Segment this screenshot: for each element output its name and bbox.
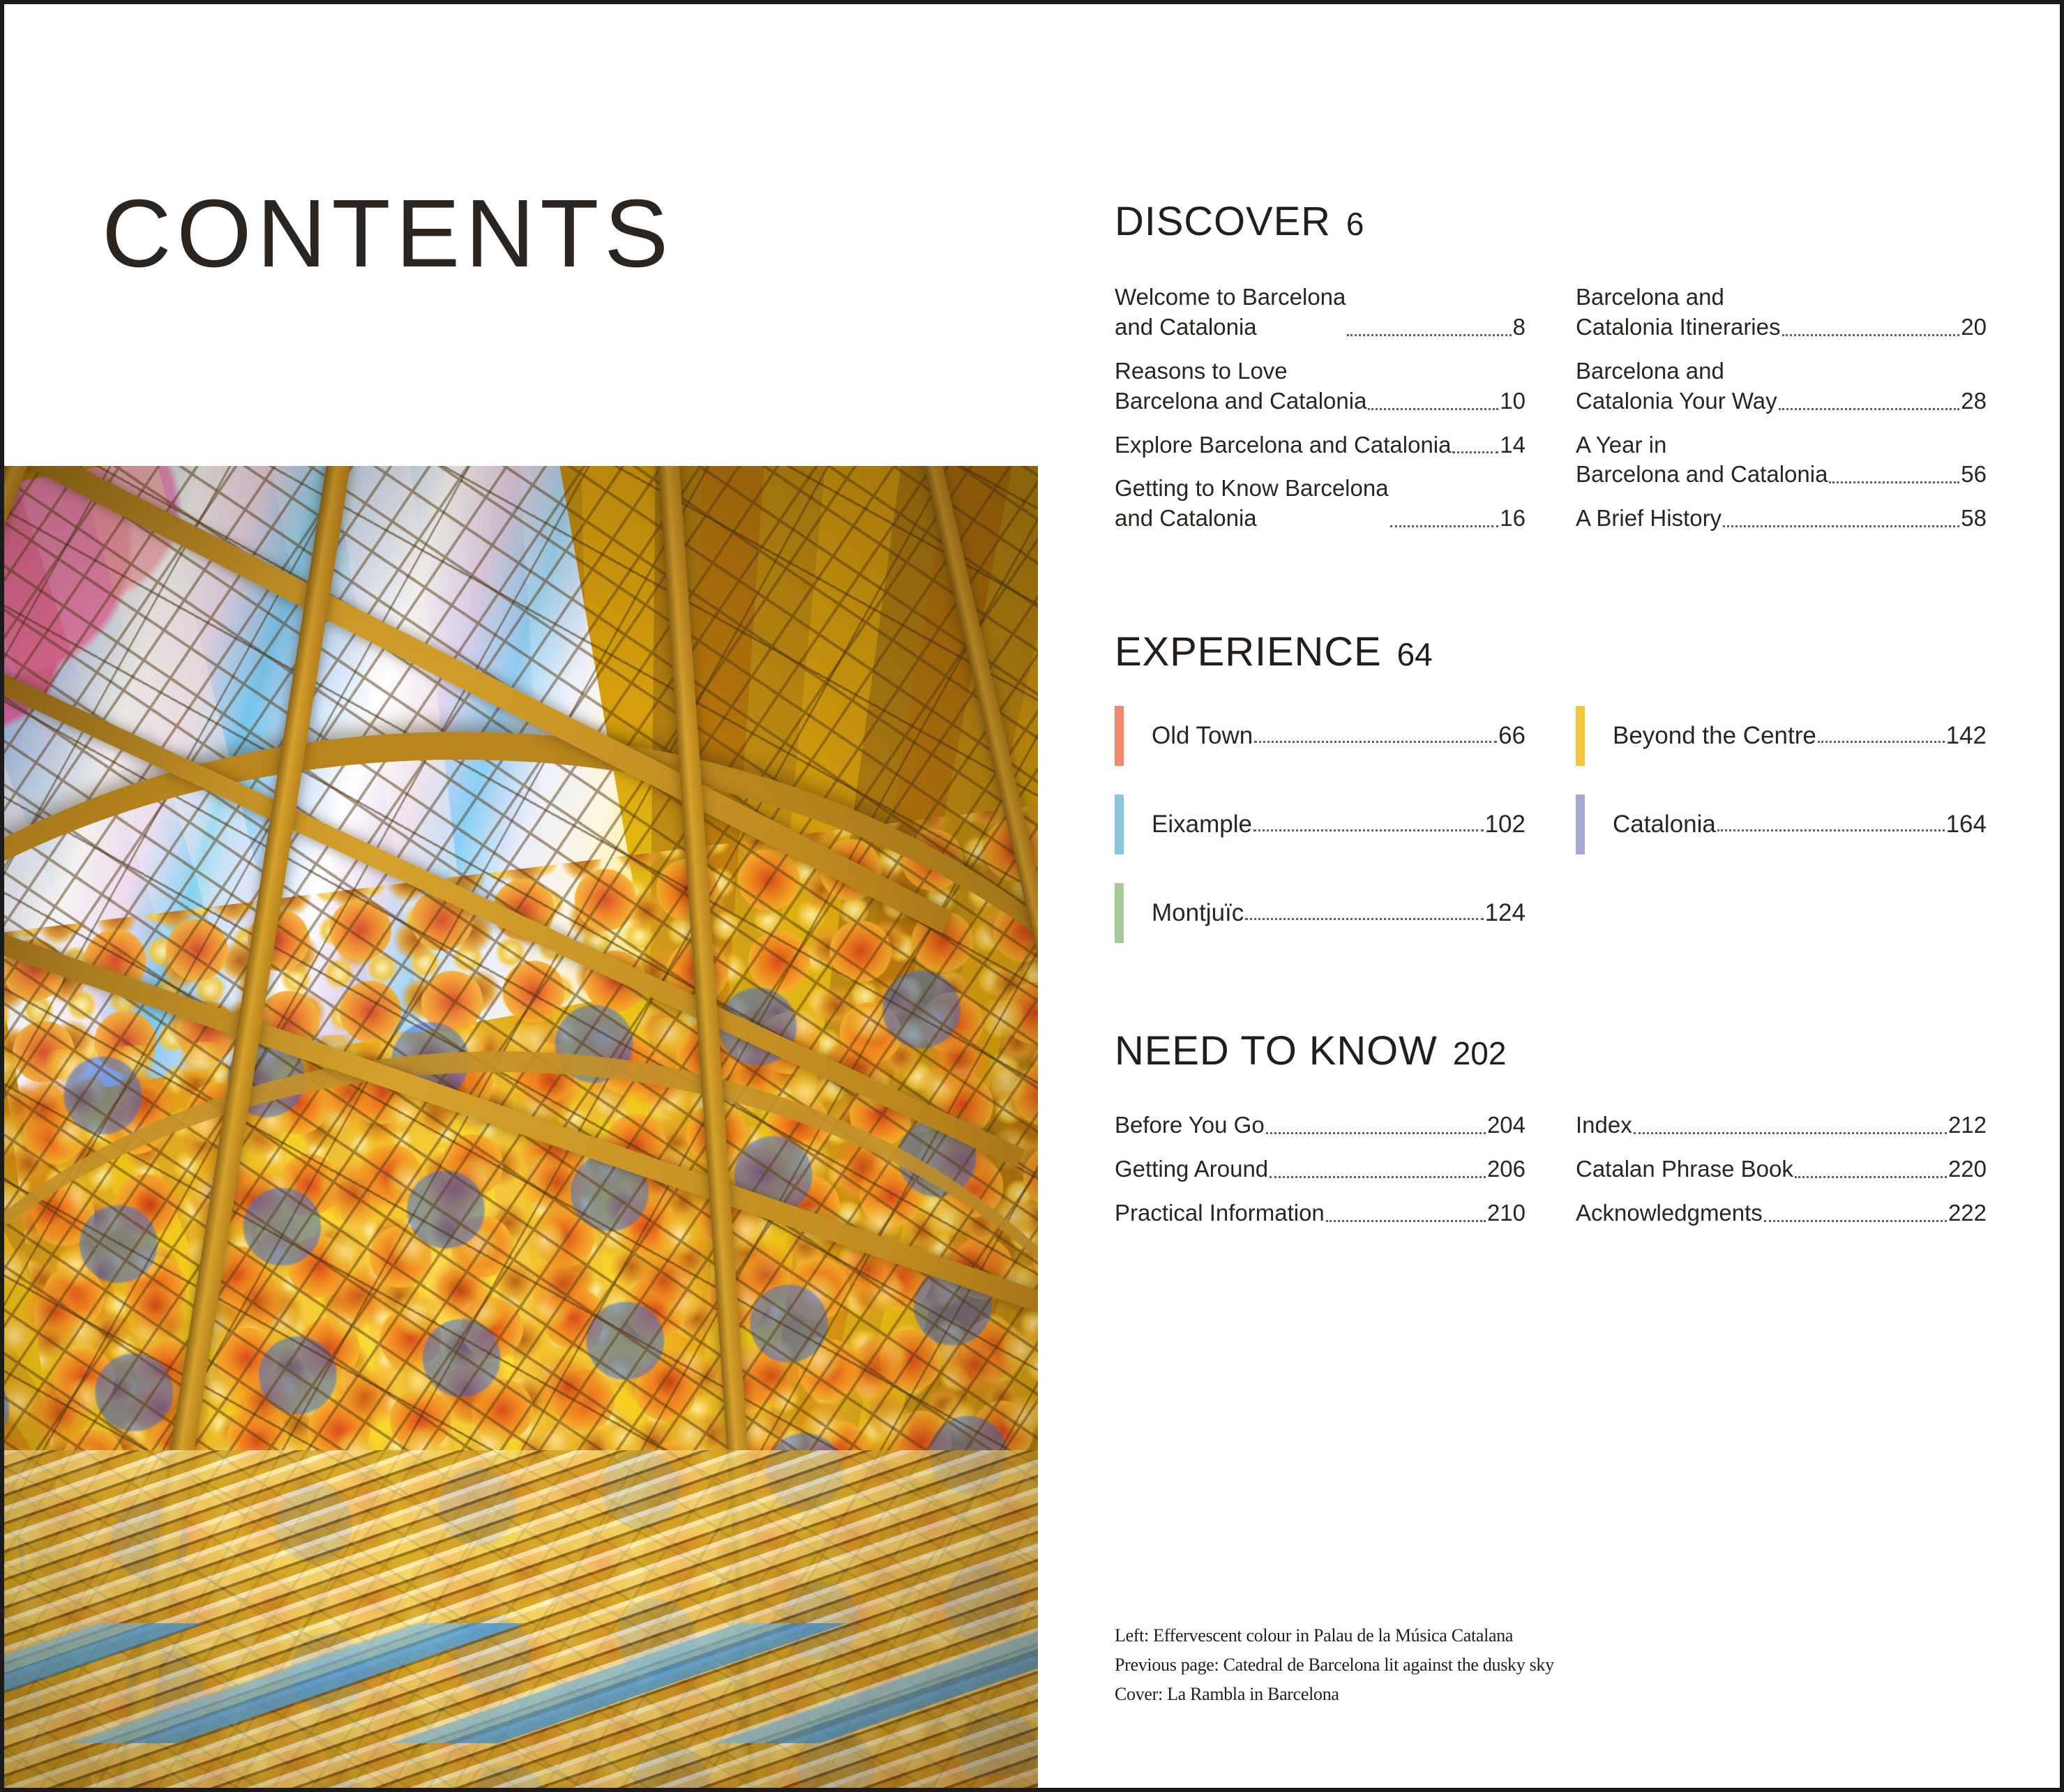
toc-entry-page: 8 — [1513, 313, 1526, 342]
section-heading-need-to-know: NEED TO KNOW202 — [1115, 1027, 1987, 1074]
contents-page: CONTENTS DISCOVER6 Welcome to Barcelona … — [0, 0, 2064, 1792]
toc-entry-label: Reasons to Love Barcelona and Catalonia — [1115, 356, 1366, 416]
area-colour-chip — [1576, 795, 1585, 854]
toc-entry[interactable]: Montjuïc 124 — [1115, 883, 1526, 943]
section-page-number: 6 — [1346, 206, 1364, 242]
dot-leader — [1245, 917, 1483, 920]
dot-leader — [1634, 1131, 1947, 1134]
area-colour-chip — [1115, 795, 1124, 854]
toc-entry-page: 212 — [1948, 1110, 1987, 1140]
section-title: NEED TO KNOW — [1115, 1028, 1438, 1074]
toc-entry-line: Eixample 102 — [1152, 811, 1526, 838]
toc-entry[interactable]: Practical Information 210 — [1115, 1198, 1526, 1228]
dot-leader — [1717, 829, 1945, 831]
toc-entry[interactable]: Before You Go 204 — [1115, 1110, 1526, 1140]
section-page-number: 64 — [1397, 636, 1433, 672]
toc-entry-line: Catalonia 164 — [1613, 811, 1987, 838]
toc-entry-label: Montjuïc — [1152, 899, 1244, 927]
toc-entry-label: Barcelona and Catalonia Your Way — [1576, 356, 1777, 416]
toc-entry-label: Welcome to Barcelona and Catalonia — [1115, 283, 1346, 342]
caption-cover: Cover: La Rambla in Barcelona — [1115, 1680, 1554, 1709]
toc-entry-label: Barcelona and Catalonia Itineraries — [1576, 283, 1781, 342]
toc-entry-page: 16 — [1500, 504, 1526, 534]
dot-leader — [1253, 829, 1484, 831]
toc-entry[interactable]: Old Town 66 — [1115, 706, 1526, 766]
discover-columns: Welcome to Barcelona and Catalonia 8 Rea… — [1115, 283, 1987, 548]
toc-entry[interactable]: Barcelona and Catalonia Itineraries 20 — [1576, 283, 1987, 342]
need-to-know-column-right: Index 212 Catalan Phrase Book 220 Acknow… — [1576, 1110, 1987, 1242]
toc-entry-label: Beyond the Centre — [1613, 722, 1816, 750]
toc-entry[interactable]: Acknowledgments 222 — [1576, 1198, 1987, 1228]
experience-columns: Old Town 66 Eixample 102 — [1115, 706, 1987, 972]
toc-entry-page: 28 — [1961, 386, 1987, 416]
toc-entry[interactable]: A Brief History 58 — [1576, 504, 1987, 534]
dot-leader — [1818, 740, 1945, 743]
toc-entry[interactable]: Getting Around 206 — [1115, 1154, 1526, 1184]
dot-leader — [1829, 481, 1959, 483]
toc-entry-page: 124 — [1485, 899, 1526, 927]
toc-entry-label: Catalan Phrase Book — [1576, 1154, 1793, 1184]
experience-column-right: Beyond the Centre 142 Catalonia 164 — [1576, 706, 1987, 972]
toc-entry[interactable]: Getting to Know Barcelona and Catalonia … — [1115, 474, 1526, 534]
dot-leader — [1254, 740, 1497, 743]
section-title: EXPERIENCE — [1115, 629, 1382, 675]
toc-entry-page: 102 — [1485, 811, 1526, 838]
section-heading-experience: EXPERIENCE64 — [1115, 628, 1987, 675]
toc-entry-page: 204 — [1487, 1110, 1526, 1140]
dot-leader — [1779, 407, 1960, 410]
toc-entry-page: 20 — [1961, 313, 1987, 342]
dot-leader — [1270, 1175, 1486, 1178]
area-colour-chip — [1115, 706, 1124, 766]
dot-leader — [1266, 1131, 1486, 1134]
dot-leader — [1390, 525, 1499, 527]
page-title: CONTENTS — [102, 179, 674, 289]
toc-entry-line: Beyond the Centre 142 — [1613, 722, 1987, 750]
section-need-to-know: NEED TO KNOW202 Before You Go 204 Gettin… — [1115, 1027, 1987, 1242]
dot-leader — [1723, 525, 1959, 527]
toc-entry[interactable]: Catalonia 164 — [1576, 795, 1987, 854]
toc-entry-label: Catalonia — [1613, 811, 1716, 838]
toc-entry[interactable]: Explore Barcelona and Catalonia 14 — [1115, 430, 1526, 460]
table-of-contents: DISCOVER6 Welcome to Barcelona and Catal… — [1115, 198, 1987, 1242]
discover-column-left: Welcome to Barcelona and Catalonia 8 Rea… — [1115, 283, 1526, 548]
toc-entry[interactable]: A Year in Barcelona and Catalonia 56 — [1576, 430, 1987, 490]
photo-captions: Left: Effervescent colour in Palau de la… — [1115, 1621, 1554, 1709]
toc-entry-label: Acknowledgments — [1576, 1198, 1763, 1228]
dot-leader — [1368, 407, 1498, 410]
toc-entry-label: A Year in Barcelona and Catalonia — [1576, 430, 1828, 490]
dot-leader — [1764, 1219, 1947, 1222]
dot-leader — [1326, 1219, 1486, 1222]
need-to-know-columns: Before You Go 204 Getting Around 206 Pra… — [1115, 1110, 1987, 1242]
dot-leader — [1795, 1175, 1947, 1178]
toc-entry-line: Old Town 66 — [1152, 722, 1526, 750]
need-to-know-column-left: Before You Go 204 Getting Around 206 Pra… — [1115, 1110, 1526, 1242]
dot-leader — [1782, 333, 1960, 336]
caption-left: Left: Effervescent colour in Palau de la… — [1115, 1621, 1554, 1650]
toc-entry-page: 222 — [1948, 1198, 1987, 1228]
caption-previous-page: Previous page: Catedral de Barcelona lit… — [1115, 1650, 1554, 1680]
dot-leader — [1452, 451, 1498, 453]
toc-entry-label: Getting Around — [1115, 1154, 1268, 1184]
toc-entry-label: Index — [1576, 1110, 1632, 1140]
section-title: DISCOVER — [1115, 199, 1331, 244]
section-experience: EXPERIENCE64 Old Town 66 — [1115, 628, 1987, 972]
toc-entry[interactable]: Catalan Phrase Book 220 — [1576, 1154, 1987, 1184]
toc-entry-label: Getting to Know Barcelona and Catalonia — [1115, 474, 1389, 534]
dot-leader — [1347, 333, 1511, 336]
toc-entry-page: 142 — [1946, 722, 1987, 750]
toc-entry[interactable]: Index 212 — [1576, 1110, 1987, 1140]
toc-entry-page: 56 — [1961, 460, 1987, 490]
toc-entry-label: Old Town — [1152, 722, 1253, 750]
toc-entry-label: Eixample — [1152, 811, 1252, 838]
toc-entry-label: Practical Information — [1115, 1198, 1325, 1228]
section-heading-discover: DISCOVER6 — [1115, 198, 1987, 245]
toc-entry-page: 206 — [1487, 1154, 1526, 1184]
discover-column-right: Barcelona and Catalonia Itineraries 20 B… — [1576, 283, 1987, 548]
toc-entry-page: 58 — [1961, 504, 1987, 534]
toc-entry-label: Explore Barcelona and Catalonia — [1115, 430, 1451, 460]
toc-entry-page: 14 — [1500, 430, 1526, 460]
toc-entry-page: 10 — [1500, 386, 1526, 416]
toc-entry-line: Montjuïc 124 — [1152, 899, 1526, 927]
toc-entry[interactable]: Barcelona and Catalonia Your Way 28 — [1576, 356, 1987, 416]
toc-entry[interactable]: Beyond the Centre 142 — [1576, 706, 1987, 766]
toc-entry[interactable]: Reasons to Love Barcelona and Catalonia … — [1115, 356, 1526, 416]
area-colour-chip — [1576, 706, 1585, 766]
toc-entry-page: 210 — [1487, 1198, 1526, 1228]
toc-entry-label: Before You Go — [1115, 1110, 1265, 1140]
toc-entry-page: 164 — [1946, 811, 1987, 838]
toc-entry[interactable]: Welcome to Barcelona and Catalonia 8 — [1115, 283, 1526, 342]
experience-column-left: Old Town 66 Eixample 102 — [1115, 706, 1526, 972]
photo-vignette — [4, 466, 1038, 1792]
section-discover: DISCOVER6 Welcome to Barcelona and Catal… — [1115, 198, 1987, 548]
section-page-number: 202 — [1453, 1035, 1507, 1071]
area-colour-chip — [1115, 883, 1124, 943]
toc-entry[interactable]: Eixample 102 — [1115, 795, 1526, 854]
toc-entry-page: 220 — [1948, 1154, 1987, 1184]
toc-entry-page: 66 — [1498, 722, 1526, 750]
toc-entry-label: A Brief History — [1576, 504, 1722, 534]
stained-glass-photo — [4, 466, 1038, 1792]
